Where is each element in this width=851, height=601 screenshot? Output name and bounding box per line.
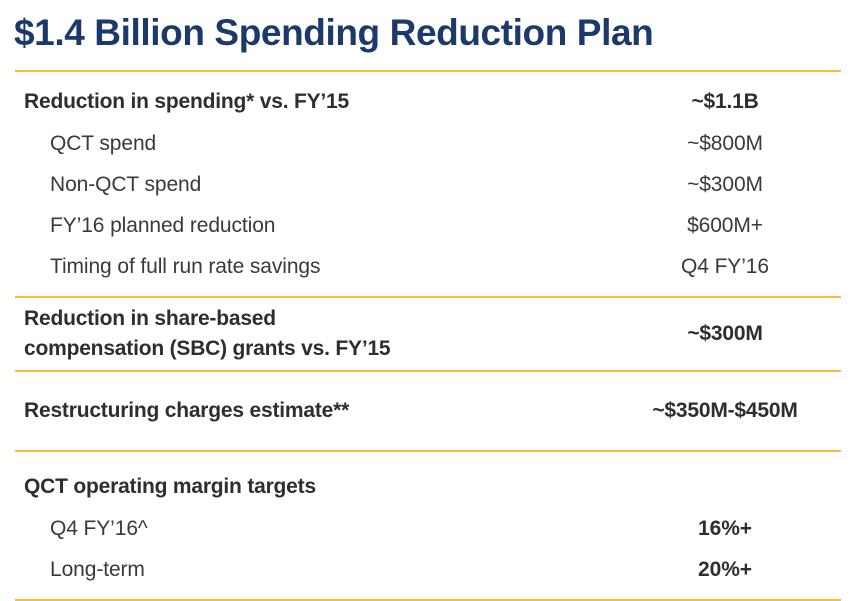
section-restructuring-charges: Restructuring charges estimate** ~$350M-… bbox=[15, 390, 841, 432]
table-row-header: QCT operating margin targets bbox=[15, 466, 841, 508]
spacer bbox=[15, 372, 841, 390]
row-value: ~$1.1B bbox=[650, 90, 841, 114]
table-row: Q4 FY’16^ 16%+ bbox=[15, 508, 841, 549]
row-label: Non-QCT spend bbox=[15, 173, 650, 197]
slide-root: $1.4 Billion Spending Reduction Plan Red… bbox=[0, 0, 851, 593]
row-value: 16%+ bbox=[650, 517, 841, 541]
row-value: Q4 FY’16 bbox=[650, 255, 841, 279]
table-row-header: Reduction in share-based compensation (S… bbox=[15, 298, 841, 370]
row-label: Restructuring charges estimate** bbox=[15, 399, 650, 423]
row-label: Reduction in share-based compensation (S… bbox=[15, 304, 650, 364]
row-value: 20%+ bbox=[650, 558, 841, 582]
row-label: Q4 FY’16^ bbox=[15, 517, 650, 541]
row-value: ~$800M bbox=[650, 132, 841, 156]
table-row-header: Reduction in spending* vs. FY’15 ~$1.1B bbox=[15, 81, 841, 123]
row-label: FY’16 planned reduction bbox=[15, 214, 650, 238]
row-value: ~$300M bbox=[650, 322, 841, 346]
table-row-header: Restructuring charges estimate** ~$350M-… bbox=[15, 390, 841, 432]
spacer bbox=[15, 287, 841, 296]
page-title: $1.4 Billion Spending Reduction Plan bbox=[14, 8, 653, 58]
row-label: Long-term bbox=[15, 558, 650, 582]
section-sbc-reduction: Reduction in share-based compensation (S… bbox=[15, 298, 841, 370]
table-row: FY’16 planned reduction $600M+ bbox=[15, 205, 841, 246]
row-value: ~$350M-$450M bbox=[650, 399, 841, 423]
section-spending-reduction: Reduction in spending* vs. FY’15 ~$1.1B … bbox=[15, 81, 841, 287]
row-label: Timing of full run rate savings bbox=[15, 255, 650, 279]
metrics-table: Reduction in spending* vs. FY’15 ~$1.1B … bbox=[15, 70, 841, 601]
row-value: ~$300M bbox=[650, 173, 841, 197]
row-label: Reduction in spending* vs. FY’15 bbox=[15, 90, 650, 114]
spacer bbox=[15, 590, 841, 599]
row-value: $600M+ bbox=[650, 214, 841, 238]
row-label: QCT spend bbox=[15, 132, 650, 156]
spacer bbox=[15, 452, 841, 466]
table-row: Non-QCT spend ~$300M bbox=[15, 164, 841, 205]
spacer bbox=[15, 432, 841, 450]
table-row: QCT spend ~$800M bbox=[15, 123, 841, 164]
table-row: Timing of full run rate savings Q4 FY’16 bbox=[15, 246, 841, 287]
row-label: QCT operating margin targets bbox=[15, 475, 650, 499]
table-row: Long-term 20%+ bbox=[15, 549, 841, 590]
section-qct-operating-margin-targets: QCT operating margin targets Q4 FY’16^ 1… bbox=[15, 466, 841, 590]
spacer bbox=[15, 72, 841, 81]
